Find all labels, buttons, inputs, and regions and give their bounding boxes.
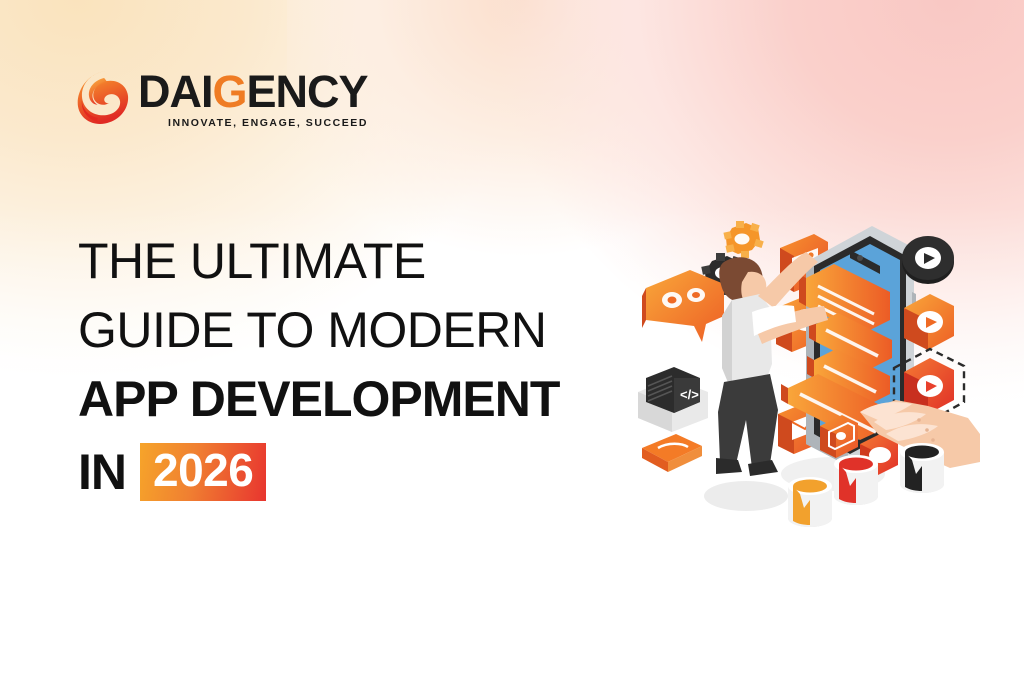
logo-text-block: DAIGENCY INNOVATE, ENGAGE, SUCCEED: [138, 69, 368, 129]
logo-word-part-2: G: [213, 69, 247, 114]
code-symbol-label: </>: [680, 387, 699, 402]
swirl-logo-icon: [76, 68, 132, 130]
person-shoe-left: [716, 458, 742, 474]
headline-line-2: GUIDE TO MODERN: [78, 305, 638, 355]
headline-line-1: THE ULTIMATE: [78, 236, 638, 286]
paint-bucket-red: [834, 455, 878, 505]
play-disc-black: [902, 236, 954, 284]
gear-orange-icon: [723, 221, 763, 258]
headline-line-4: IN 2026: [78, 443, 638, 501]
logo-tagline: INNOVATE, ENGAGE, SUCCEED: [138, 117, 368, 129]
headline-line-3: APP DEVELOPMENT: [78, 374, 638, 424]
person-pants: [718, 374, 778, 468]
paint-bucket-orange: [788, 477, 832, 527]
logo-word-part-3: ENCY: [247, 69, 368, 114]
paint-bucket-black: [900, 443, 944, 493]
hero-illustration: </>: [628, 196, 980, 542]
headline-block: THE ULTIMATE GUIDE TO MODERN APP DEVELOP…: [78, 236, 638, 501]
logo-word-part-1: DAI: [138, 69, 213, 114]
logo-wordmark: DAIGENCY: [138, 69, 368, 114]
year-badge: 2026: [140, 443, 266, 501]
brand-logo[interactable]: DAIGENCY INNOVATE, ENGAGE, SUCCEED: [76, 68, 368, 130]
chat-bubble-settings-tile: [642, 270, 724, 342]
headline-line-4-prefix: IN: [78, 447, 126, 497]
banner-canvas: DAIGENCY INNOVATE, ENGAGE, SUCCEED THE U…: [0, 0, 1024, 687]
isometric-app-development-scene: </>: [628, 196, 980, 542]
person-ground-shadow: [704, 481, 788, 511]
code-stack-box: </>: [638, 367, 708, 432]
orange-book: [642, 434, 702, 472]
